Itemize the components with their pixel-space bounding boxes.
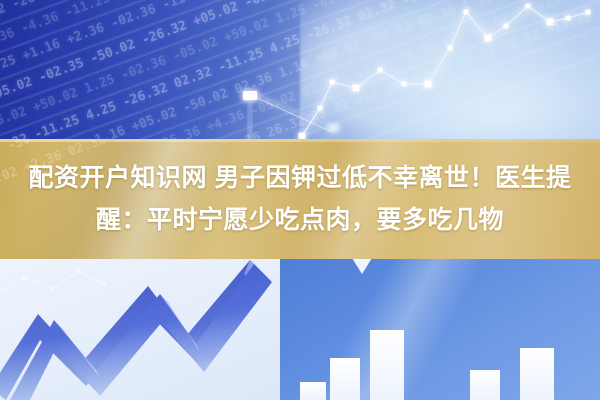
chart-node <box>425 81 432 88</box>
chart-node <box>586 10 591 15</box>
bar-chart-bars <box>300 330 554 400</box>
chart-node <box>566 16 571 21</box>
bar <box>470 370 500 400</box>
chart-node <box>448 46 453 51</box>
bar <box>300 382 326 400</box>
bar <box>520 348 554 400</box>
chart-node <box>485 35 492 42</box>
bar <box>330 358 360 400</box>
lower-panel <box>0 258 600 400</box>
headline-block: 配资开户知识网 男子因钾过低不幸离世！医生提 醒：平时宁愿少吃点肉，要多吃几物 <box>0 139 600 259</box>
chart-node <box>547 19 554 26</box>
chart-node <box>378 68 383 73</box>
sparkle-network <box>0 270 106 292</box>
bar <box>370 330 404 400</box>
headline-line-1: 配资开户知识网 男子因钾过低不幸离世！医生提 <box>29 158 572 198</box>
chart-node <box>504 24 509 29</box>
chart-node <box>526 4 531 9</box>
headline-line-2: 醒：平时宁愿少吃点肉，要多吃几物 <box>96 200 504 240</box>
chart-node <box>464 10 469 15</box>
thumbnail-canvas: +21.05 -45.02 -02.36 +11.25 +21.05 -45.0… <box>0 0 600 400</box>
chart-node <box>402 82 407 87</box>
